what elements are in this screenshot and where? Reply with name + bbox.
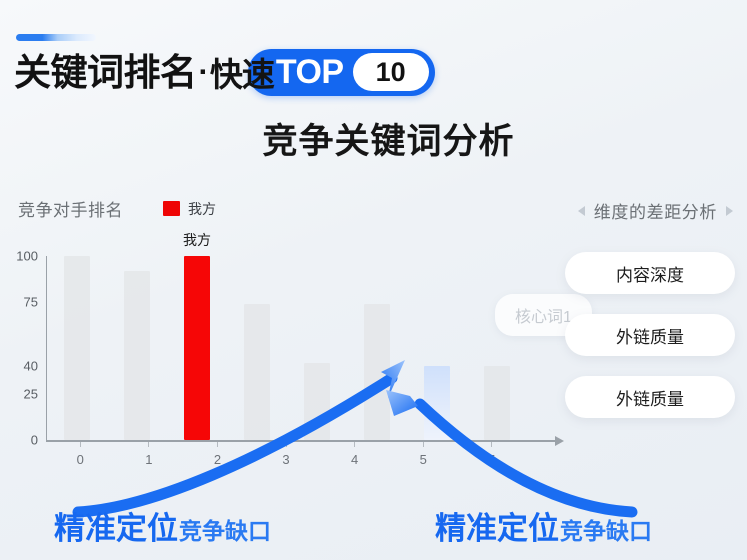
caption-left-small: 竞争缺口 (179, 512, 271, 546)
caption-left: 精准定位 竞争缺口 (54, 503, 271, 548)
x-axis-tick-label: 1 (145, 452, 152, 467)
x-axis-tick-mark (354, 442, 355, 447)
x-axis-tick-mark (217, 442, 218, 447)
page-subtitle: 快速 (210, 48, 274, 96)
bar-competitor (364, 304, 389, 440)
top-rank-badge[interactable]: TOP 10 (248, 49, 435, 96)
x-axis-tick-mark (423, 442, 424, 447)
top-badge-word: TOP (276, 55, 344, 89)
page-title: 关键词排名 (14, 54, 197, 91)
bar-value-label: 我方 (183, 230, 211, 250)
x-axis-tick: 1 (115, 442, 184, 467)
x-axis-tick: 2 (183, 442, 252, 467)
x-axis-tick-label: 0 (77, 452, 84, 467)
x-axis-tick-mark (80, 442, 81, 447)
legend-item-mine[interactable]: 我方 (163, 199, 216, 219)
chevron-left-icon[interactable] (578, 206, 585, 216)
x-axis-tick: 4 (320, 442, 389, 467)
x-axis-tick: 3 (252, 442, 321, 467)
competitor-rank-caption: 竞争对手排名 (18, 196, 123, 221)
caption-right-small: 竞争缺口 (560, 512, 652, 546)
x-axis-tick-mark (148, 442, 149, 447)
x-axis-tick-label: 2 (214, 452, 221, 467)
x-axis-tick-mark (286, 442, 287, 447)
bar-competitor (124, 271, 149, 440)
bar-slot[interactable] (107, 256, 167, 440)
bar-competitor (484, 366, 509, 440)
x-axis-tick-label: 5 (488, 452, 495, 467)
bar-slot[interactable] (467, 256, 527, 440)
bar-competitor (304, 363, 329, 440)
header-line: 关键词排名 · 快速 TOP 10 (14, 46, 435, 98)
bar-chart: 0254075100 我方 0123455 (0, 248, 560, 480)
y-axis-tick-label: 40 (24, 359, 38, 374)
caption-left-big: 精准定位 (54, 503, 178, 548)
top-badge-number: 10 (353, 53, 429, 91)
x-axis-tick-label: 4 (351, 452, 358, 467)
legend-swatch-icon (163, 201, 180, 216)
progress-accent-bar (16, 34, 96, 41)
bar-slot[interactable] (47, 256, 107, 440)
dimension-card[interactable]: 外链质量 (565, 376, 735, 418)
x-axis-tick-label: 5 (420, 452, 427, 467)
bar-slot[interactable] (287, 256, 347, 440)
dimension-card[interactable]: 外链质量 (565, 314, 735, 356)
legend-label-mine: 我方 (188, 199, 216, 219)
x-axis-tick: 5 (389, 442, 458, 467)
bar-slot[interactable] (407, 256, 467, 440)
bar-target (424, 366, 449, 440)
x-axis-tick: 0 (46, 442, 115, 467)
bar-group: 我方 (47, 256, 527, 440)
caption-right: 精准定位 竞争缺口 (435, 503, 652, 548)
bar-competitor (244, 304, 269, 440)
bar-slot[interactable]: 我方 (167, 256, 227, 440)
chevron-right-icon[interactable] (726, 206, 733, 216)
dimension-card-list: 内容深度外链质量外链质量 (565, 252, 735, 418)
legend-row: 竞争对手排名 我方 (18, 196, 216, 221)
dimension-card[interactable]: 内容深度 (565, 252, 735, 294)
dimension-gap-title: 维度的差距分析 (594, 198, 717, 223)
y-axis: 0254075100 (0, 248, 44, 438)
x-axis-tick-label: 3 (282, 452, 289, 467)
y-axis-tick-label: 25 (24, 387, 38, 402)
x-axis: 0123455 (46, 442, 526, 467)
bar-slot[interactable] (227, 256, 287, 440)
y-axis-tick-label: 100 (16, 249, 38, 264)
x-axis-tick: 5 (457, 442, 526, 467)
main-title: 竞争关键词分析 (0, 113, 747, 164)
y-axis-tick-label: 75 (24, 295, 38, 310)
caption-right-big: 精准定位 (435, 503, 559, 548)
keyword-rank-infographic: { "header": { "accent_bar_name": "progre… (0, 0, 747, 560)
bar-mine (184, 256, 209, 440)
bar-competitor (64, 256, 89, 440)
title-separator: · (199, 54, 209, 90)
dimension-gap-header: 维度的差距分析 (578, 198, 733, 223)
bar-slot[interactable] (347, 256, 407, 440)
y-axis-tick-label: 0 (31, 433, 38, 448)
x-axis-tick-mark (491, 442, 492, 447)
plot-area: 我方 (46, 256, 527, 440)
